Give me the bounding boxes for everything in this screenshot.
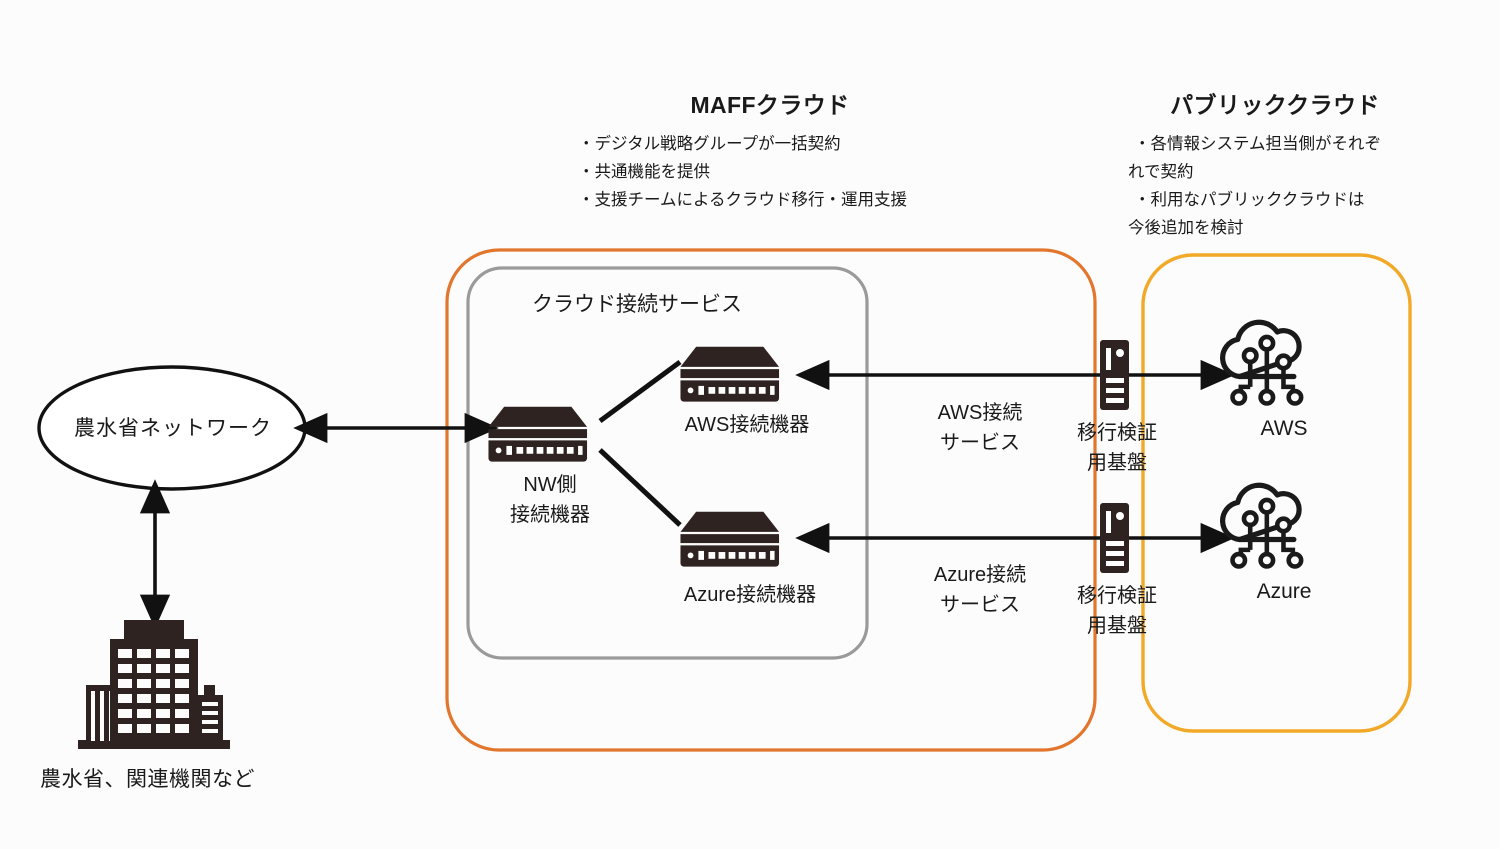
aws-connection-service-label: AWS接続サービス	[890, 398, 1070, 459]
azure-migration-platform-label: 移行検証用基盤	[1062, 581, 1172, 642]
maff-cloud-bullet-3: ・支援チームによるクラウド移行・運用支援	[578, 187, 907, 214]
cloud-network-icon-azure	[1223, 485, 1302, 566]
network-switch-icon-nw	[488, 407, 587, 462]
public-cloud-bullet-4: 今後追加を検討	[1128, 215, 1244, 242]
office-building-icon	[78, 620, 230, 749]
azure-connection-service-label: Azure接続サービス	[890, 560, 1070, 621]
maff-cloud-heading: MAFFクラウド	[600, 90, 940, 121]
organization-label: 農水省、関連機関など	[40, 766, 255, 794]
server-icon-azure-migration	[1100, 503, 1129, 573]
public-cloud-bullet-3: ・利用なパブリッククラウドは	[1134, 187, 1364, 214]
public-cloud-bullet-1: ・各情報システム担当側がそれぞ	[1134, 131, 1381, 158]
aws-migration-platform-label: 移行検証用基盤	[1062, 418, 1172, 479]
cloud-connect-service-title: クラウド接続サービス	[532, 291, 742, 319]
aws-device-label: AWS接続機器	[642, 410, 852, 440]
public-cloud-bullet-2: れで契約	[1128, 159, 1194, 186]
network-switch-icon-azure	[680, 512, 779, 567]
nw-side-device-label: NW側接続機器	[470, 470, 630, 530]
cloud-network-icon-aws	[1223, 322, 1302, 403]
maff-cloud-bullet-2: ・共通機能を提供	[578, 159, 710, 186]
diagram-canvas: MAFFクラウド ・デジタル戦略グループが一括契約 ・共通機能を提供 ・支援チー…	[0, 0, 1500, 849]
server-icon-aws-migration	[1100, 340, 1129, 410]
azure-cloud-label: Azure	[1204, 578, 1364, 606]
aws-cloud-label: AWS	[1204, 415, 1364, 443]
maff-network-label: 農水省ネットワーク	[48, 415, 298, 443]
network-switch-icon-aws	[680, 347, 779, 402]
public-cloud-heading: パブリッククラウド	[1130, 90, 1420, 121]
maff-cloud-bullet-1: ・デジタル戦略グループが一括契約	[578, 131, 841, 158]
azure-device-label: Azure接続機器	[640, 580, 860, 610]
